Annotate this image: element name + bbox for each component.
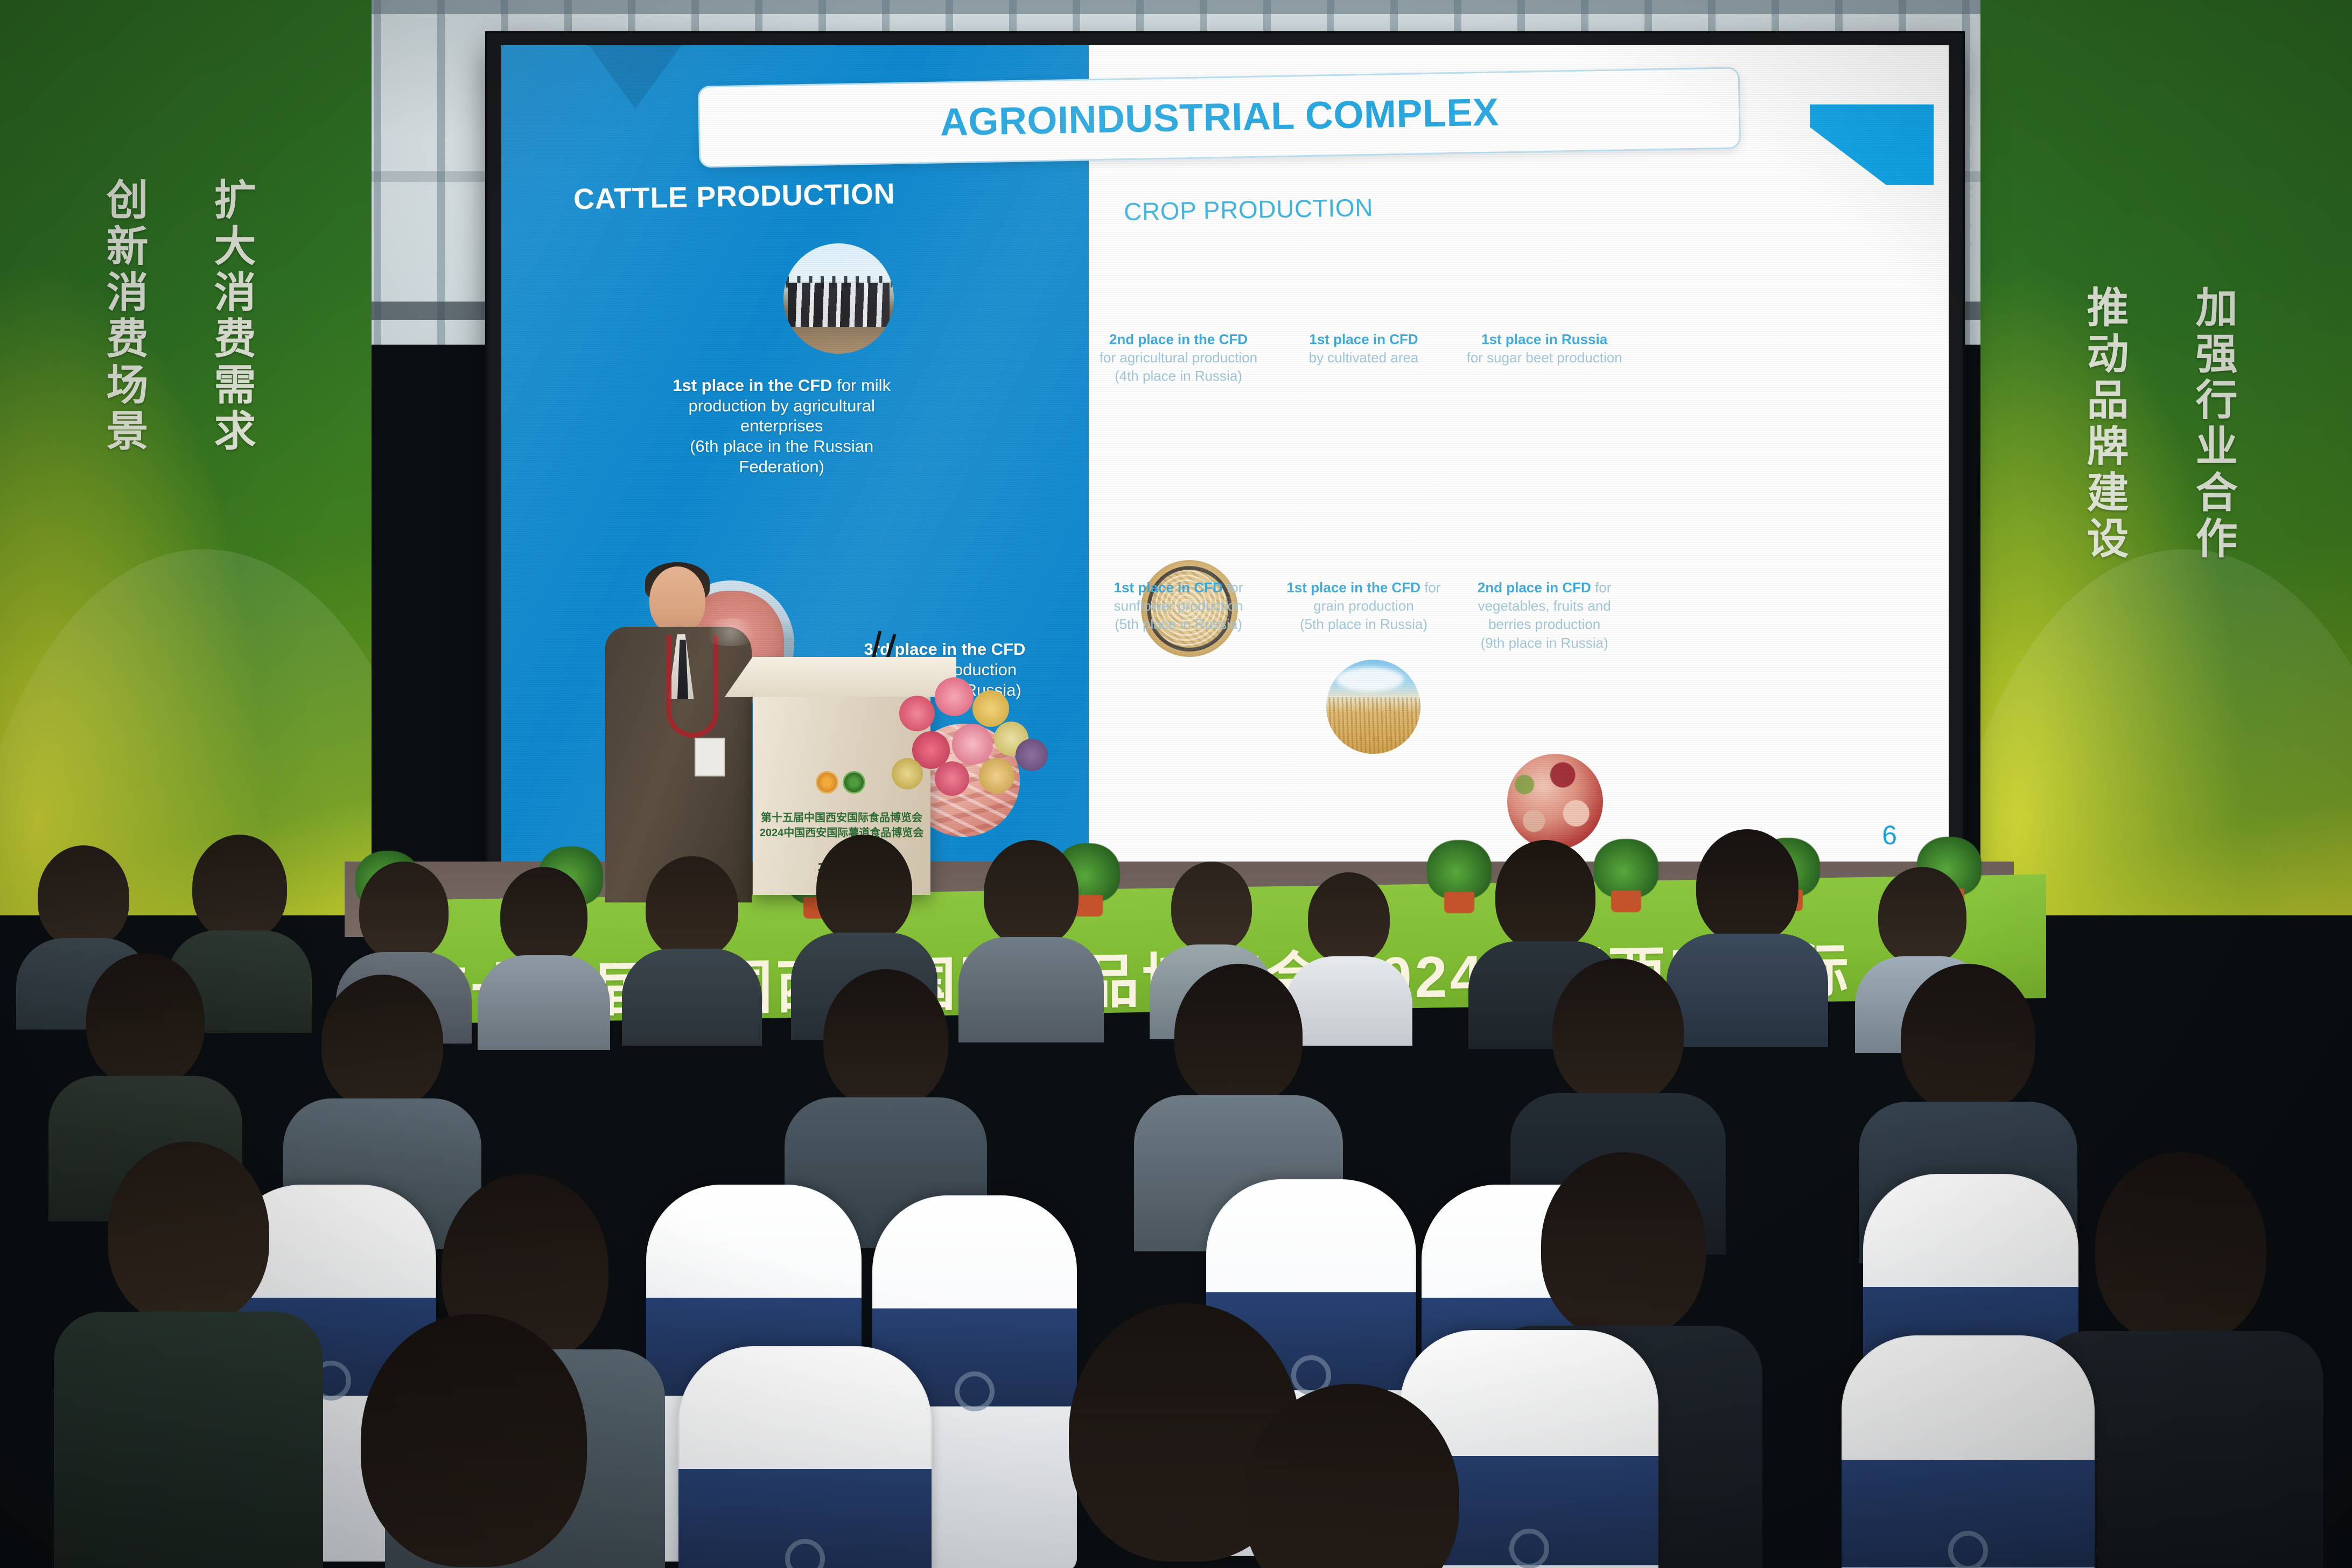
caption-sunflower-production: 1st place in CFD for sunflower productio… bbox=[1097, 578, 1259, 634]
audience-area bbox=[0, 775, 2352, 1568]
caption-line3: (5th place in Russia) bbox=[1300, 616, 1427, 632]
caption-vegetables-fruits-berries: 2nd place in CFD for vegetables, fruits … bbox=[1461, 578, 1628, 652]
chair-sash-knot bbox=[955, 1371, 995, 1411]
caption-line3: (5th place in Russia) bbox=[1115, 616, 1242, 632]
caption-cultivated-area: 1st place in CFD by cultivated area bbox=[1283, 330, 1445, 367]
section-heading-crop: CROP PRODUCTION bbox=[1123, 193, 1373, 226]
conference-hall-photo: 创新消费场景 扩大消费需求 推动品牌建设 加强行业合作 AGROINDUSTRI… bbox=[0, 0, 2352, 1568]
audience-person bbox=[75, 1142, 302, 1568]
page-title: AGROINDUSTRIAL COMPLEX bbox=[940, 90, 1499, 144]
caption-line3: (4th place in Russia) bbox=[1115, 368, 1242, 384]
caption-bold: 2nd place in CFD bbox=[1478, 579, 1591, 596]
audience-person bbox=[1206, 1384, 1497, 1568]
caption-line2: vegetables, fruits and bbox=[1478, 598, 1611, 614]
caption-bold: 1st place in CFD bbox=[1309, 331, 1418, 347]
audience-person bbox=[302, 975, 463, 1201]
caption-bold: 2nd place in the CFD bbox=[1109, 331, 1248, 347]
banquet-chair bbox=[678, 1346, 932, 1568]
caption-rest: for bbox=[1420, 579, 1441, 596]
caption-bold: 1st place in Russia bbox=[1481, 331, 1607, 347]
audience-person bbox=[323, 1314, 625, 1568]
section-heading-cattle: CATTLE PRODUCTION bbox=[573, 177, 895, 216]
caption-rest: for bbox=[1591, 579, 1612, 596]
audience-person bbox=[630, 856, 754, 1023]
banquet-chair bbox=[1842, 1335, 2095, 1568]
caption-rest: for milk bbox=[832, 376, 891, 395]
right-wall-text-column-2: 加强行业合作 bbox=[2192, 285, 2235, 563]
caption-line4: (9th place in Russia) bbox=[1481, 635, 1608, 651]
audience-person bbox=[1879, 964, 2057, 1206]
audience-person bbox=[969, 840, 1093, 1018]
caption-bold: 1st place in the CFD bbox=[673, 376, 832, 395]
chair-sash-knot bbox=[1948, 1531, 1988, 1568]
caption-line3: (6th place in the Russian Federation) bbox=[690, 437, 873, 476]
speaker-head bbox=[649, 566, 705, 634]
audience-person bbox=[802, 969, 969, 1201]
left-wall-text-column-1: 创新消费场景 bbox=[102, 178, 145, 455]
wheat-field-sky-photo bbox=[1326, 660, 1420, 754]
dairy-cows-barn-photo bbox=[783, 243, 894, 354]
slide-right-panel bbox=[1089, 45, 1949, 870]
speaker-lanyard bbox=[667, 635, 718, 738]
caption-agricultural-production: 2nd place in the CFD for agricultural pr… bbox=[1097, 330, 1259, 386]
audience-person bbox=[1152, 964, 1325, 1201]
caption-line2: for agricultural production bbox=[1100, 349, 1257, 366]
chair-sash-knot bbox=[1509, 1529, 1549, 1568]
right-wall-text-column-1: 推动品牌建设 bbox=[2083, 285, 2126, 563]
caption-line2: for sugar beet production bbox=[1467, 349, 1622, 366]
speaker-badge bbox=[695, 738, 725, 776]
caption-line2: sunflower production bbox=[1114, 598, 1243, 614]
caption-line3: berries production bbox=[1488, 616, 1600, 632]
caption-line2: production by agricultural enterprises bbox=[688, 396, 874, 436]
caption-milk-production: 1st place in the CFD for milk production… bbox=[661, 375, 903, 477]
audience-person bbox=[485, 867, 603, 1028]
caption-grain-production: 1st place in the CFD for grain productio… bbox=[1283, 578, 1445, 634]
caption-sugar-beet: 1st place in Russia for sugar beet produ… bbox=[1461, 330, 1628, 367]
caption-bold: 1st place in the CFD bbox=[1286, 579, 1420, 596]
caption-line2: by cultivated area bbox=[1309, 349, 1419, 366]
left-wall-text-column-2: 扩大消费需求 bbox=[210, 178, 253, 455]
audience-person bbox=[2062, 1152, 2299, 1568]
caption-line2: grain production bbox=[1313, 598, 1413, 614]
caption-rest: for bbox=[1223, 579, 1243, 596]
caption-bold: 1st place in CFD bbox=[1114, 579, 1223, 596]
